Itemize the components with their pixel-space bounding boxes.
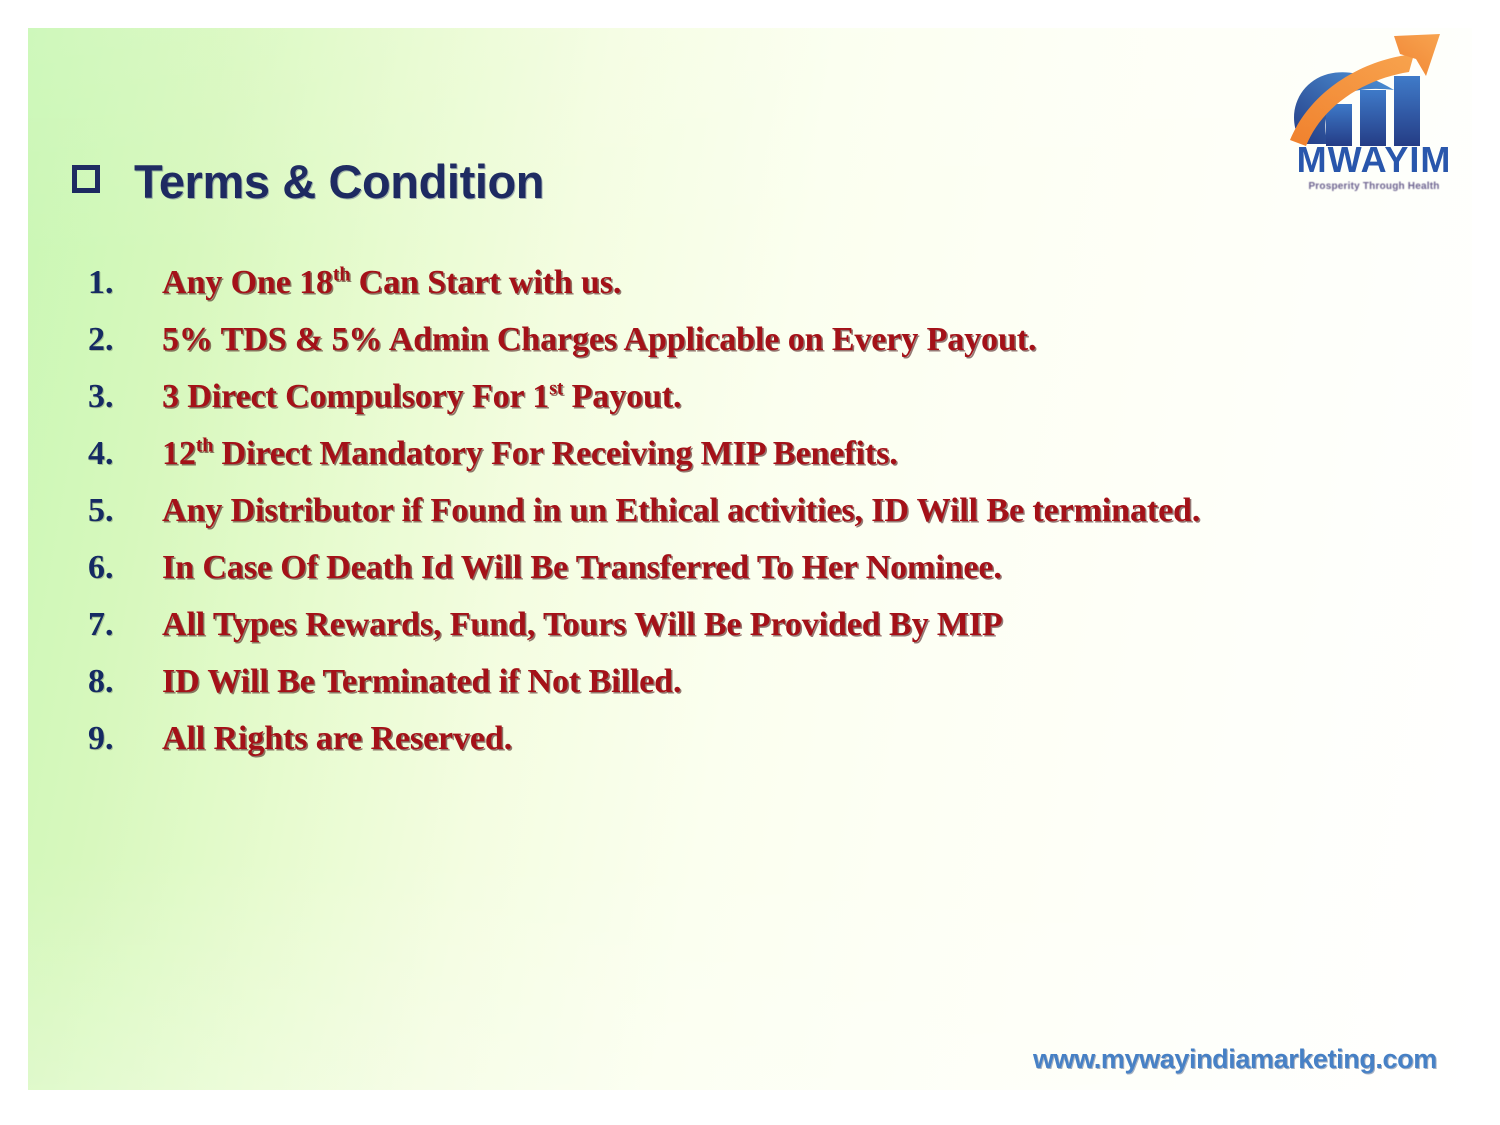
- list-item: 5. Any Distributor if Found in un Ethica…: [88, 492, 1448, 549]
- logo-bar-2-icon: [1360, 90, 1386, 146]
- slide-canvas: MWAYIM Prosperity Through Health Terms &…: [28, 28, 1472, 1090]
- list-item: 1. Any One 18th Can Start with us.: [88, 264, 1448, 321]
- mwayim-logo: MWAYIM Prosperity Through Health: [1276, 32, 1472, 212]
- list-item-text: Any Distributor if Found in un Ethical a…: [162, 492, 1200, 530]
- logo-bar-3-icon: [1394, 76, 1420, 146]
- list-item: 7. All Types Rewards, Fund, Tours Will B…: [88, 606, 1448, 663]
- list-item-text: ID Will Be Terminated if Not Billed.: [162, 663, 681, 701]
- list-item-number: 7.: [88, 606, 162, 644]
- list-item-number: 8.: [88, 663, 162, 701]
- ordinal-suffix: th: [333, 264, 350, 286]
- list-item-number: 5.: [88, 492, 162, 530]
- list-item-text: All Types Rewards, Fund, Tours Will Be P…: [162, 606, 1003, 644]
- list-item-text: All Rights are Reserved.: [162, 720, 512, 758]
- list-item-number: 9.: [88, 720, 162, 758]
- list-item: 4. 12th Direct Mandatory For Receiving M…: [88, 435, 1448, 492]
- ordinal-suffix: th: [196, 435, 213, 457]
- page-title-text: Terms & Condition: [134, 154, 544, 209]
- list-item-text: In Case Of Death Id Will Be Transferred …: [162, 549, 1002, 587]
- list-item-number: 6.: [88, 549, 162, 587]
- logo-wordmark: MWAYIM: [1276, 142, 1472, 178]
- list-item-number: 4.: [88, 435, 162, 473]
- website-url[interactable]: www.mywayindiamarketing.com: [1033, 1044, 1437, 1075]
- list-item-text: 5% TDS & 5% Admin Charges Applicable on …: [162, 321, 1036, 359]
- list-item: 3. 3 Direct Compulsory For 1st Payout.: [88, 378, 1448, 435]
- logo-tagline: Prosperity Through Health: [1276, 182, 1472, 192]
- list-item-number: 2.: [88, 321, 162, 359]
- list-item-text: Any One 18th Can Start with us.: [162, 264, 621, 302]
- list-item-text: 12th Direct Mandatory For Receiving MIP …: [162, 435, 898, 473]
- ordinal-suffix: st: [549, 378, 563, 400]
- list-item: 2. 5% TDS & 5% Admin Charges Applicable …: [88, 321, 1448, 378]
- list-item-number: 1.: [88, 264, 162, 302]
- hollow-square-bullet-icon: [72, 165, 106, 199]
- page-title: Terms & Condition: [72, 154, 544, 209]
- list-item: 9. All Rights are Reserved.: [88, 720, 1448, 777]
- list-item: 8. ID Will Be Terminated if Not Billed.: [88, 663, 1448, 720]
- list-item-number: 3.: [88, 378, 162, 416]
- list-item: 6. In Case Of Death Id Will Be Transferr…: [88, 549, 1448, 606]
- terms-list: 1. Any One 18th Can Start with us. 2. 5%…: [88, 264, 1448, 777]
- list-item-text: 3 Direct Compulsory For 1st Payout.: [162, 378, 681, 416]
